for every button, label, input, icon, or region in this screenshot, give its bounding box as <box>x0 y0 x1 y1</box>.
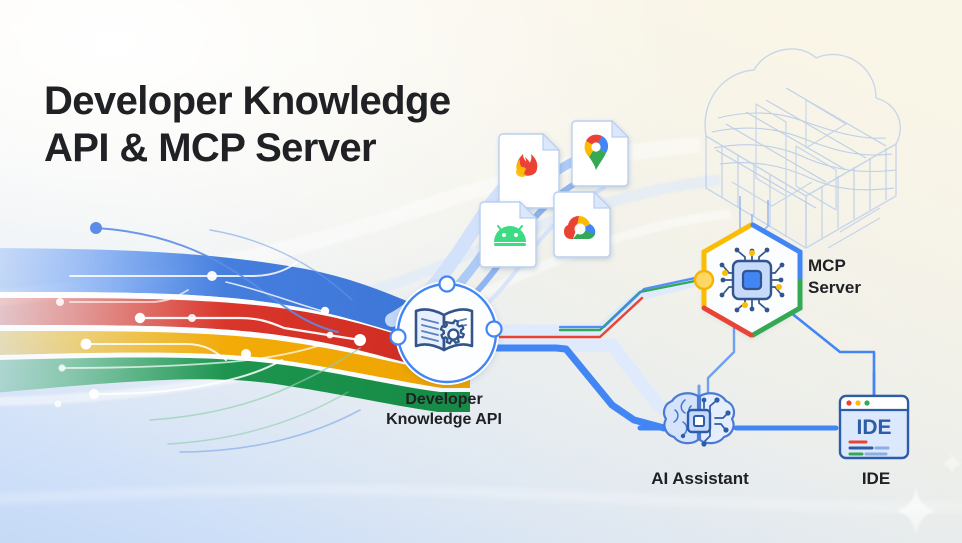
firebase-doc-card[interactable] <box>499 134 559 208</box>
wireframe-cloud-icon <box>705 49 900 248</box>
dka-label-line-2: Knowledge API <box>368 410 520 430</box>
ide-window-icon: IDE <box>840 396 908 458</box>
ide-screen-text: IDE <box>856 416 891 439</box>
ide-node[interactable]: IDE <box>840 396 908 458</box>
mcp-port-left <box>695 271 713 289</box>
book-gear-icon <box>416 309 472 350</box>
title-line-1: Developer Knowledge <box>44 78 450 125</box>
node-port-right <box>487 322 502 337</box>
google-cloud-doc-card[interactable] <box>554 192 610 257</box>
page-title: Developer Knowledge API & MCP Server <box>44 78 450 172</box>
lower-ambient-band <box>0 490 962 507</box>
sparkle-small-icon <box>942 452 962 475</box>
mcp-label-line-2: Server <box>808 277 928 299</box>
google-maps-doc-card[interactable] <box>572 121 628 186</box>
ai-assistant-node[interactable] <box>664 393 734 446</box>
connector-mcp-ide <box>790 312 874 396</box>
brain-chip-icon <box>664 393 734 446</box>
node-port-left <box>391 330 406 345</box>
title-line-2: API & MCP Server <box>44 125 450 172</box>
mcp-server-label: MCP Server <box>808 255 928 299</box>
window-dot-yellow <box>855 400 860 405</box>
infographic-canvas: IDE <box>0 0 962 543</box>
window-dot-green <box>864 400 869 405</box>
ide-label: IDE <box>826 468 926 490</box>
node-port-top <box>440 277 455 292</box>
window-dot-red <box>846 400 851 405</box>
ai-assistant-label: AI Assistant <box>620 468 780 490</box>
mcp-server-node[interactable] <box>695 224 800 336</box>
dka-label-line-1: Developer <box>368 390 520 410</box>
android-doc-card[interactable] <box>480 202 536 267</box>
mcp-label-line-1: MCP <box>808 255 928 277</box>
developer-knowledge-api-label: Developer Knowledge API <box>368 390 520 431</box>
